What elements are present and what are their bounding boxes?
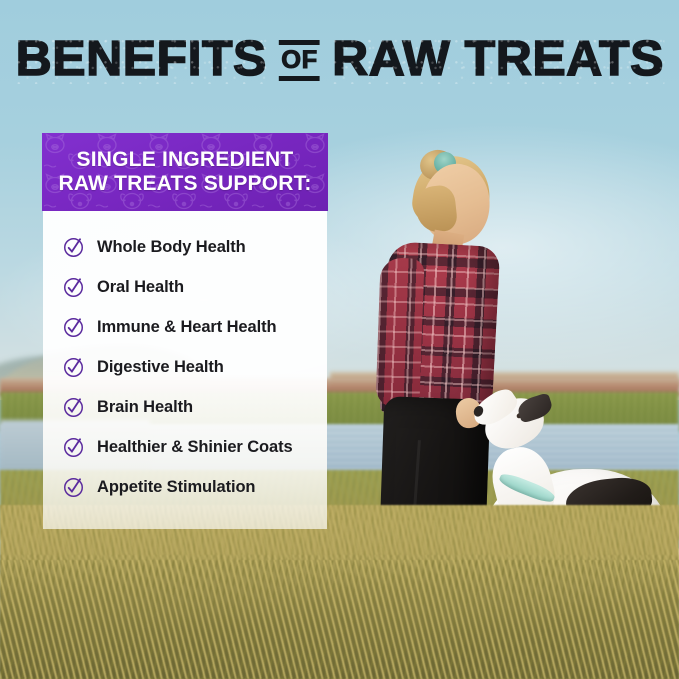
hair-side-lock: [414, 184, 459, 234]
title-word-of: OF: [277, 40, 322, 81]
benefit-label: Healthier & Shinier Coats: [97, 438, 293, 457]
benefit-label: Appetite Stimulation: [97, 478, 255, 497]
page-title: BENEFITS OF RAW TREATS: [15, 35, 663, 84]
list-item: Digestive Health: [43, 347, 327, 387]
poster-title-bar: BENEFITS OF RAW TREATS: [0, 0, 679, 118]
plaid-sleeve: [375, 257, 424, 408]
list-item: Brain Health: [43, 387, 327, 427]
panel-header: SINGLE INGREDIENT RAW TREATS SUPPORT:: [42, 133, 328, 211]
benefit-label: Immune & Heart Health: [97, 318, 276, 337]
check-circle-icon: [63, 437, 84, 458]
panel-heading-line2: RAW TREATS SUPPORT:: [58, 172, 311, 196]
check-circle-icon: [63, 357, 84, 378]
list-item: Immune & Heart Health: [43, 307, 327, 347]
check-circle-icon: [63, 397, 84, 418]
benefit-label: Digestive Health: [97, 358, 224, 377]
list-item: Whole Body Health: [43, 227, 327, 267]
check-circle-icon: [63, 317, 84, 338]
check-circle-icon: [63, 477, 84, 498]
benefits-panel: SINGLE INGREDIENT RAW TREATS SUPPORT: Wh…: [42, 133, 328, 529]
check-circle-icon: [63, 237, 84, 258]
check-circle-icon: [63, 277, 84, 298]
title-word-benefits: BENEFITS: [15, 35, 266, 84]
dog-nose: [472, 404, 485, 418]
list-item: Oral Health: [43, 267, 327, 307]
benefits-list: Whole Body Health Oral Health Immune & H…: [43, 211, 327, 529]
of-label: OF: [281, 48, 317, 73]
of-rule-top: [279, 40, 320, 45]
list-item: Appetite Stimulation: [43, 467, 327, 507]
benefit-label: Oral Health: [97, 278, 184, 297]
panel-heading-line1: SINGLE INGREDIENT: [58, 148, 311, 172]
benefit-label: Whole Body Health: [97, 238, 246, 257]
poster-canvas: BENEFITS OF RAW TREATS: [0, 0, 679, 679]
benefit-label: Brain Health: [97, 398, 193, 417]
panel-heading: SINGLE INGREDIENT RAW TREATS SUPPORT:: [58, 148, 311, 197]
title-word-raw-treats: RAW TREATS: [332, 35, 664, 84]
list-item: Healthier & Shinier Coats: [43, 427, 327, 467]
of-rule-bottom: [279, 76, 320, 81]
grass-foreground-overlay: [0, 560, 679, 679]
